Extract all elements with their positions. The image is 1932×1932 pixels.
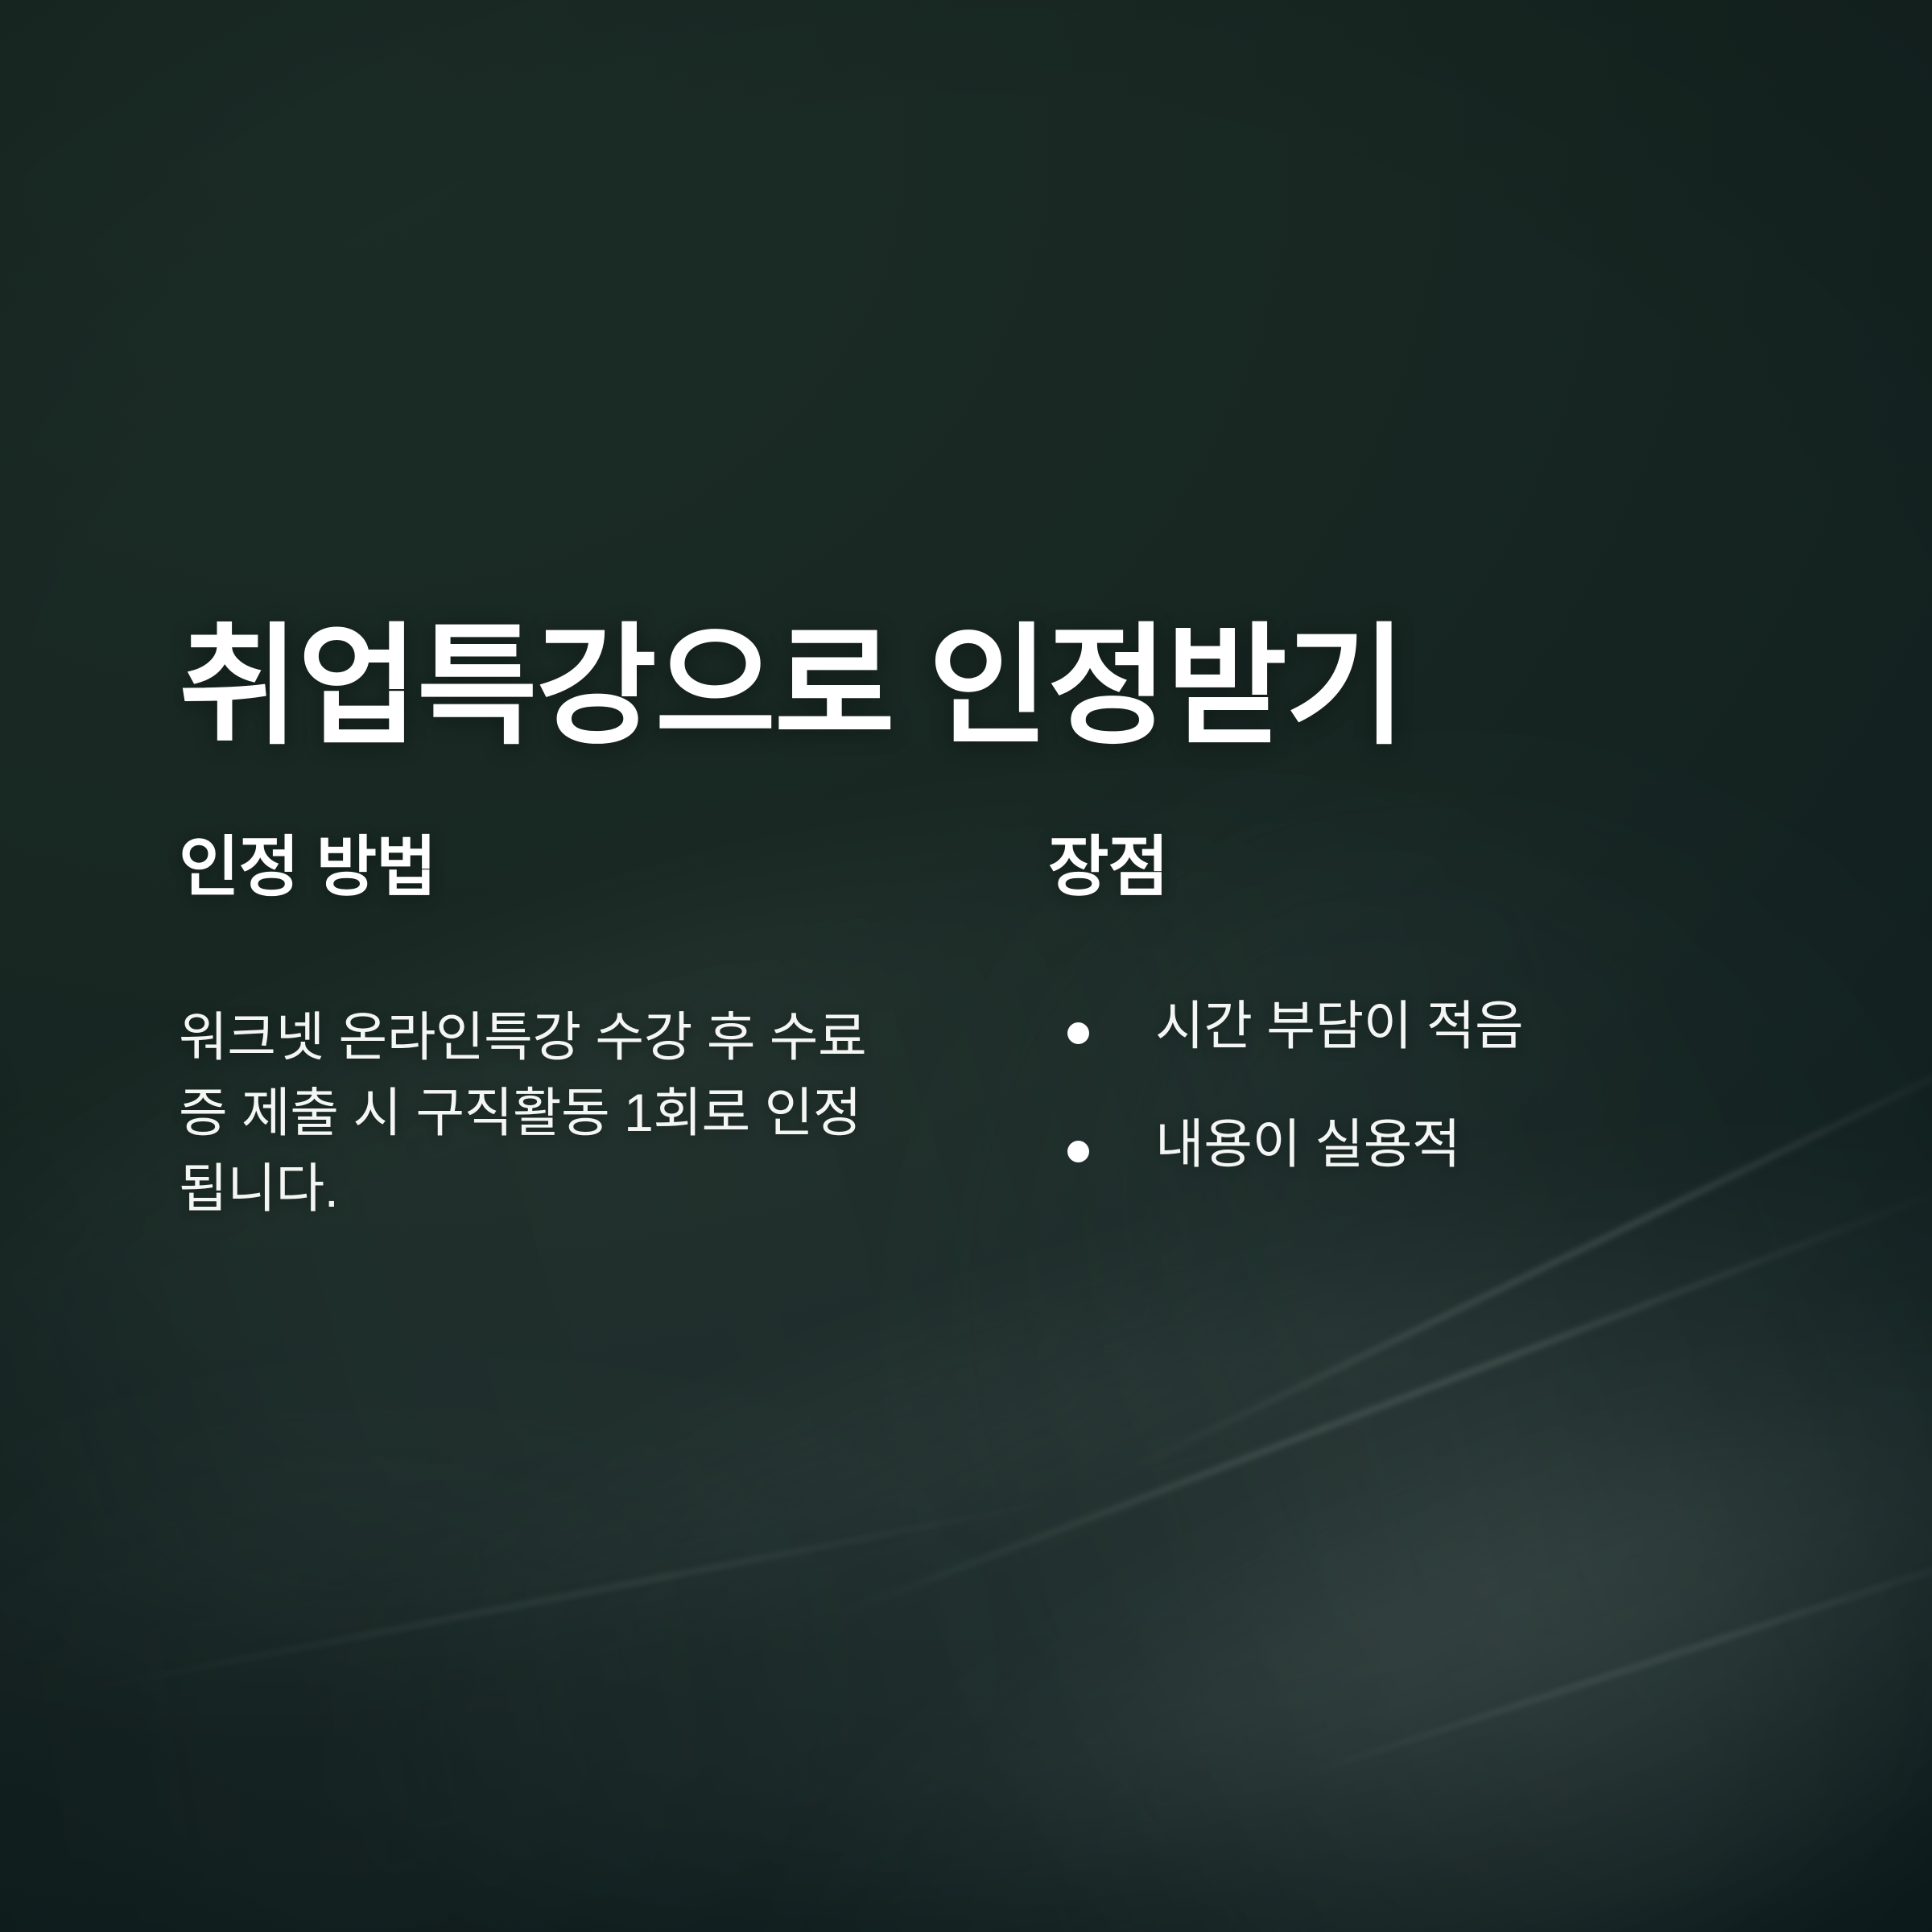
column-heading-method: 인정 방법: [179, 829, 903, 906]
bullet-dot-icon: [1067, 1022, 1089, 1044]
slide-content: 취업특강으로 인정받기 인정 방법 워크넷 온라인특강 수강 후 수료증 제출 …: [0, 0, 1932, 1932]
list-item: 시간 부담이 적음: [1048, 990, 1813, 1061]
column-heading-benefits: 장점: [1048, 829, 1813, 906]
column-body-method: 워크넷 온라인특강 수강 후 수료증 제출 시 구직활동 1회로 인정됩니다.: [179, 1000, 871, 1226]
column-method: 인정 방법 워크넷 온라인특강 수강 후 수료증 제출 시 구직활동 1회로 인…: [179, 829, 903, 1279]
list-item-label: 내용이 실용적: [1155, 1114, 1460, 1174]
bullet-dot-icon: [1067, 1141, 1089, 1162]
page-title: 취업특강으로 인정받기: [179, 613, 1405, 761]
list-item: 내용이 실용적: [1048, 1108, 1813, 1179]
slide-canvas: 취업특강으로 인정받기 인정 방법 워크넷 온라인특강 수강 후 수료증 제출 …: [0, 0, 1932, 1932]
benefits-bullet-list: 시간 부담이 적음 내용이 실용적: [1048, 990, 1813, 1179]
column-benefits: 장점 시간 부담이 적음 내용이 실용적: [1048, 829, 1813, 1179]
list-item-label: 시간 부담이 적음: [1155, 996, 1523, 1055]
